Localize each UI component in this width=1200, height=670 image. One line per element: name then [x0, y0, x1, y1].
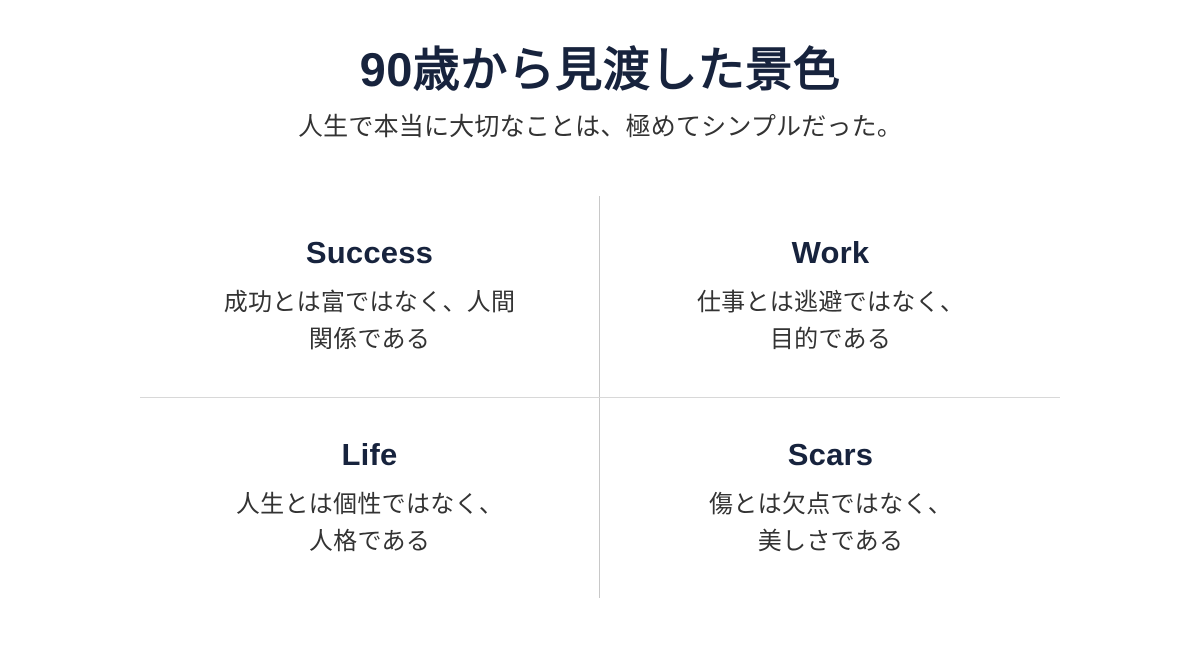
quadrant-heading-scars: Scars — [788, 438, 873, 472]
quadrant-body-line: 関係である — [224, 321, 516, 358]
quadrant-body-success: 成功とは富ではなく、人間 関係である — [224, 284, 516, 358]
quadrant-body-line: 目的である — [697, 321, 964, 358]
quadrant-body-scars: 傷とは欠点ではなく、 美しさである — [709, 486, 952, 560]
quadrant-body-line: 人格である — [236, 523, 503, 560]
quadrant-grid: Success 成功とは富ではなく、人間 関係である Work 仕事とは逃避では… — [140, 196, 1060, 598]
quadrant-scars: Scars 傷とは欠点ではなく、 美しさである — [601, 398, 1060, 599]
quadrant-body-work: 仕事とは逃避ではなく、 目的である — [697, 284, 964, 358]
slide-canvas: 90歳から見渡した景色 人生で本当に大切なことは、極めてシンプルだった。 Suc… — [0, 0, 1200, 670]
quadrant-work: Work 仕事とは逃避ではなく、 目的である — [601, 196, 1060, 397]
quadrant-success: Success 成功とは富ではなく、人間 関係である — [140, 196, 599, 397]
quadrant-body-line: 美しさである — [709, 523, 952, 560]
slide-header: 90歳から見渡した景色 人生で本当に大切なことは、極めてシンプルだった。 — [0, 44, 1200, 143]
page-subtitle: 人生で本当に大切なことは、極めてシンプルだった。 — [0, 111, 1200, 144]
quadrant-body-line: 成功とは富ではなく、人間 — [224, 284, 516, 321]
quadrant-life: Life 人生とは個性ではなく、 人格である — [140, 398, 599, 599]
quadrant-body-line: 仕事とは逃避ではなく、 — [697, 284, 964, 321]
quadrant-body-life: 人生とは個性ではなく、 人格である — [236, 486, 503, 560]
quadrant-body-line: 人生とは個性ではなく、 — [236, 486, 503, 523]
quadrant-heading-life: Life — [342, 438, 398, 472]
quadrant-heading-work: Work — [792, 236, 870, 270]
quadrant-heading-success: Success — [306, 236, 433, 270]
quadrant-body-line: 傷とは欠点ではなく、 — [709, 486, 952, 523]
page-title: 90歳から見渡した景色 — [0, 44, 1200, 97]
